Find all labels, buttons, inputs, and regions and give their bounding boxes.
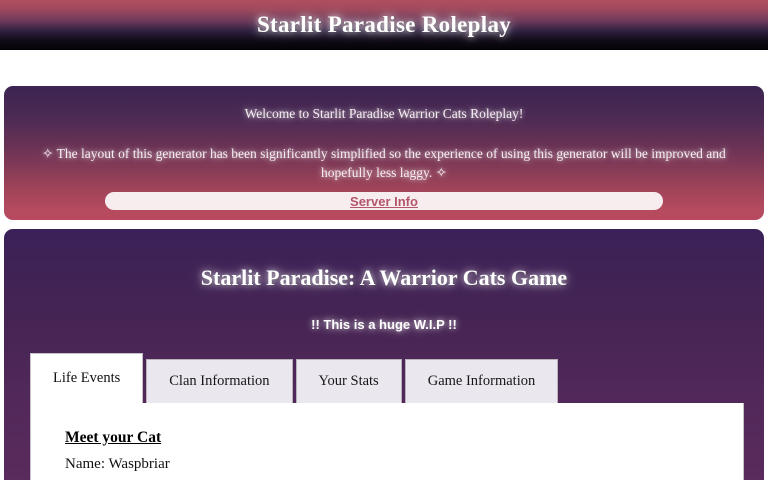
server-info-button[interactable]: Server Info: [105, 192, 663, 210]
panel-heading-meet-your-cat: Meet your Cat: [65, 429, 743, 447]
game-section: Starlit Paradise: A Warrior Cats Game !!…: [4, 229, 764, 480]
server-info-row: Server Info: [4, 192, 764, 210]
tab-label: Game Information: [428, 373, 536, 390]
site-title: Starlit Paradise Roleplay: [257, 12, 511, 38]
tab-strip: Life Events Clan Information Your Stats …: [30, 353, 764, 403]
site-header: Starlit Paradise Roleplay: [0, 0, 768, 50]
welcome-note: ✧ The layout of this generator has been …: [38, 144, 730, 182]
tab-clan-information[interactable]: Clan Information: [146, 359, 292, 403]
tab-label: Your Stats: [319, 373, 379, 390]
tab-panel-life-events: Meet your Cat Name: Waspbriar: [30, 403, 744, 480]
server-info-label: Server Info: [350, 194, 418, 209]
tab-game-information[interactable]: Game Information: [405, 359, 559, 403]
tab-label: Life Events: [53, 370, 120, 387]
welcome-banner: Welcome to Starlit Paradise Warrior Cats…: [4, 86, 764, 220]
game-title: Starlit Paradise: A Warrior Cats Game: [4, 265, 764, 291]
tab-your-stats[interactable]: Your Stats: [296, 359, 402, 403]
game-subtitle: !! This is a huge W.I.P !!: [4, 317, 764, 332]
tab-label: Clan Information: [169, 373, 269, 390]
cat-name-line: Name: Waspbriar: [65, 456, 743, 473]
welcome-greeting: Welcome to Starlit Paradise Warrior Cats…: [18, 105, 750, 123]
tab-life-events[interactable]: Life Events: [30, 353, 143, 403]
